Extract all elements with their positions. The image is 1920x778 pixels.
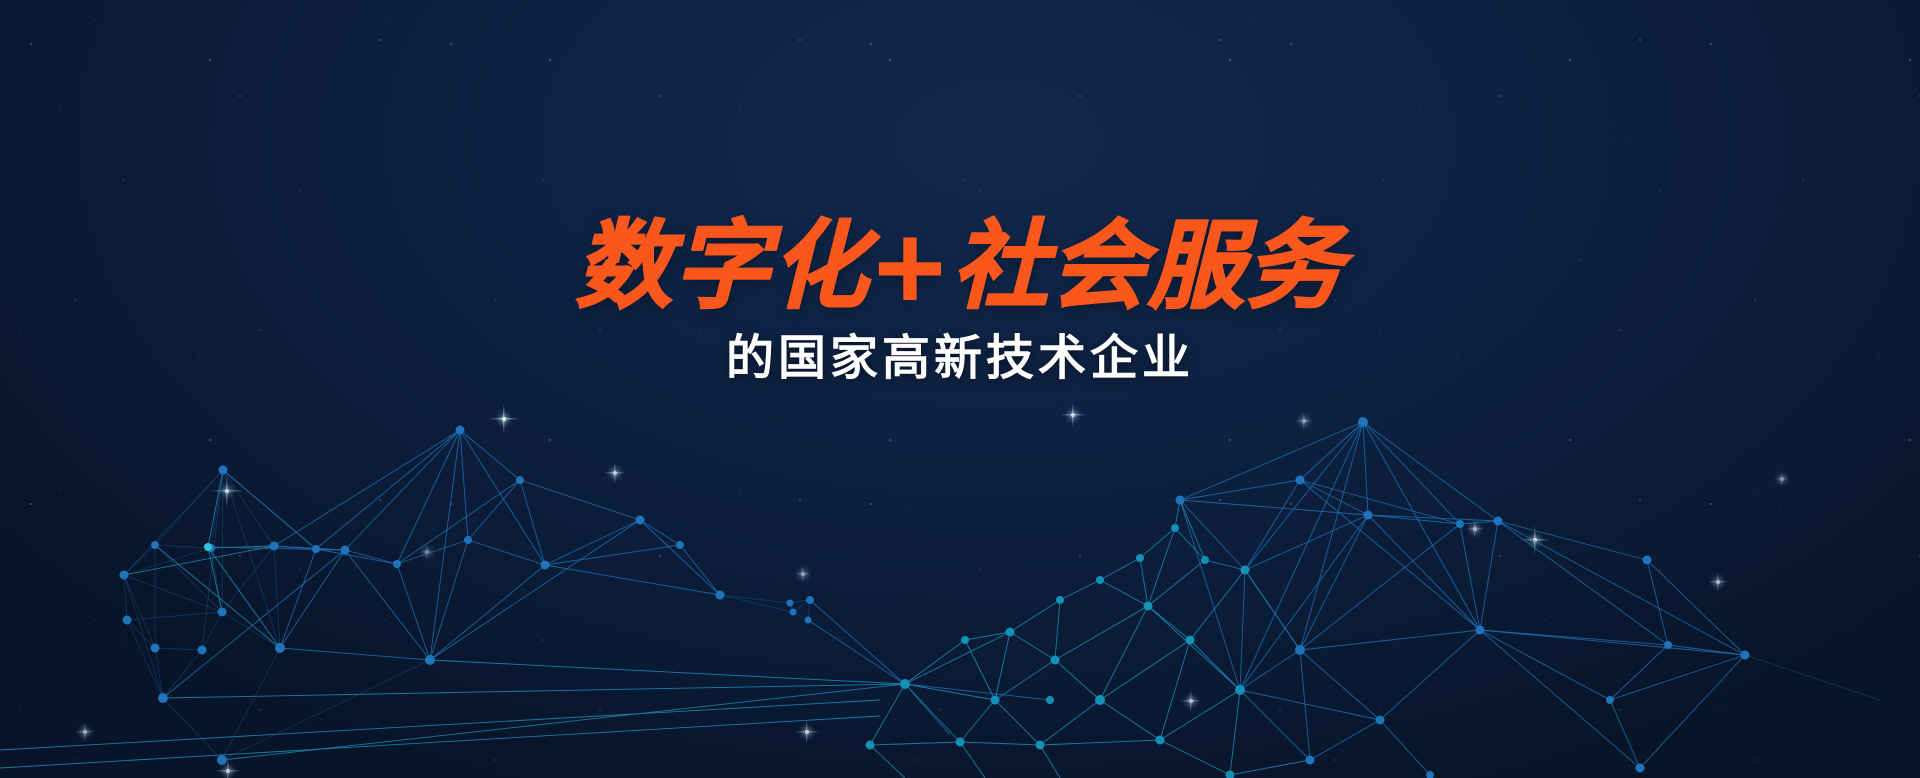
mesh-nodes (120, 417, 1750, 778)
mesh-edges (0, 422, 1880, 778)
sparkle-icon (1180, 690, 1202, 712)
sparkle-icon (1060, 402, 1086, 428)
sparkle-icon (604, 462, 626, 484)
sparkle-icon (1775, 472, 1789, 486)
sparkle-icon (215, 758, 241, 778)
sparkle-icon (1708, 572, 1728, 592)
headline-block: 数字化+社会服务 的国家高新技术企业 (0, 218, 1920, 388)
sparkle-icon (795, 566, 811, 582)
sparkle-icon (1520, 525, 1550, 555)
sparkle-icon (75, 722, 95, 742)
sparkle-icon (210, 474, 244, 508)
sparkle-icon (795, 720, 819, 744)
starfield-layer-back (0, 0, 1920, 778)
hero-banner: 数字化+社会服务 的国家高新技术企业 (0, 0, 1920, 778)
sparkle-icon (489, 404, 519, 434)
starfield-layer-mid (0, 0, 1920, 778)
page-title: 数字化+社会服务 (0, 218, 1920, 316)
page-subtitle: 的国家高新技术企业 (0, 330, 1920, 388)
starfield-layer-front (0, 0, 1920, 778)
network-mesh-graphic (0, 0, 1920, 778)
sparkle-icon (420, 545, 434, 559)
sparkle-icon (1295, 412, 1313, 430)
sparkle-icon (1466, 520, 1484, 538)
